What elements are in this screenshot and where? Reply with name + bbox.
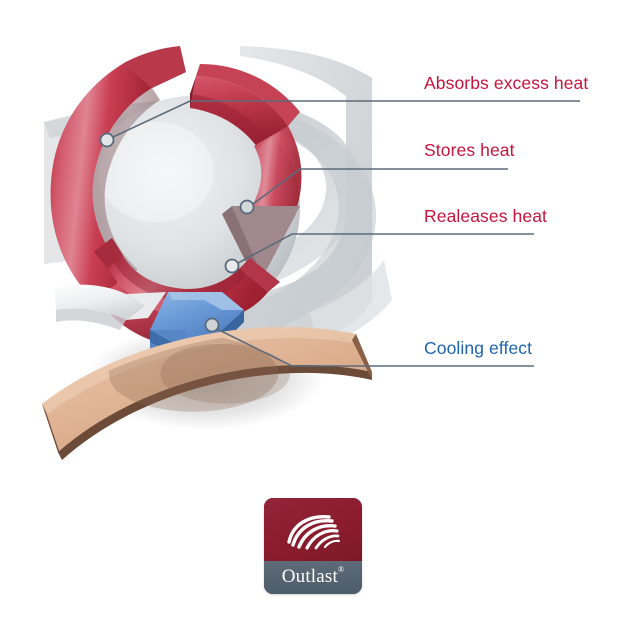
logo-top-panel <box>264 498 362 561</box>
registered-mark: ® <box>338 565 344 574</box>
callout-label-releases: Realeases heat <box>424 208 547 226</box>
logo-bottom-panel: Outlast® <box>264 561 362 594</box>
infographic-canvas: Absorbs excess heat Stores heat Realease… <box>0 0 625 625</box>
logo-swoosh-icon <box>283 512 343 552</box>
logo-wordmark-text: Outlast <box>282 566 338 587</box>
callout-label-stores: Stores heat <box>424 142 515 160</box>
callout-label-absorbs: Absorbs excess heat <box>424 75 588 93</box>
callout-label-cooling: Cooling effect <box>424 340 532 358</box>
logo-wordmark: Outlast® <box>282 566 345 588</box>
logo-card: Outlast® <box>264 498 362 594</box>
outlast-logo: Outlast® <box>264 498 362 594</box>
skin-surface <box>42 327 372 460</box>
